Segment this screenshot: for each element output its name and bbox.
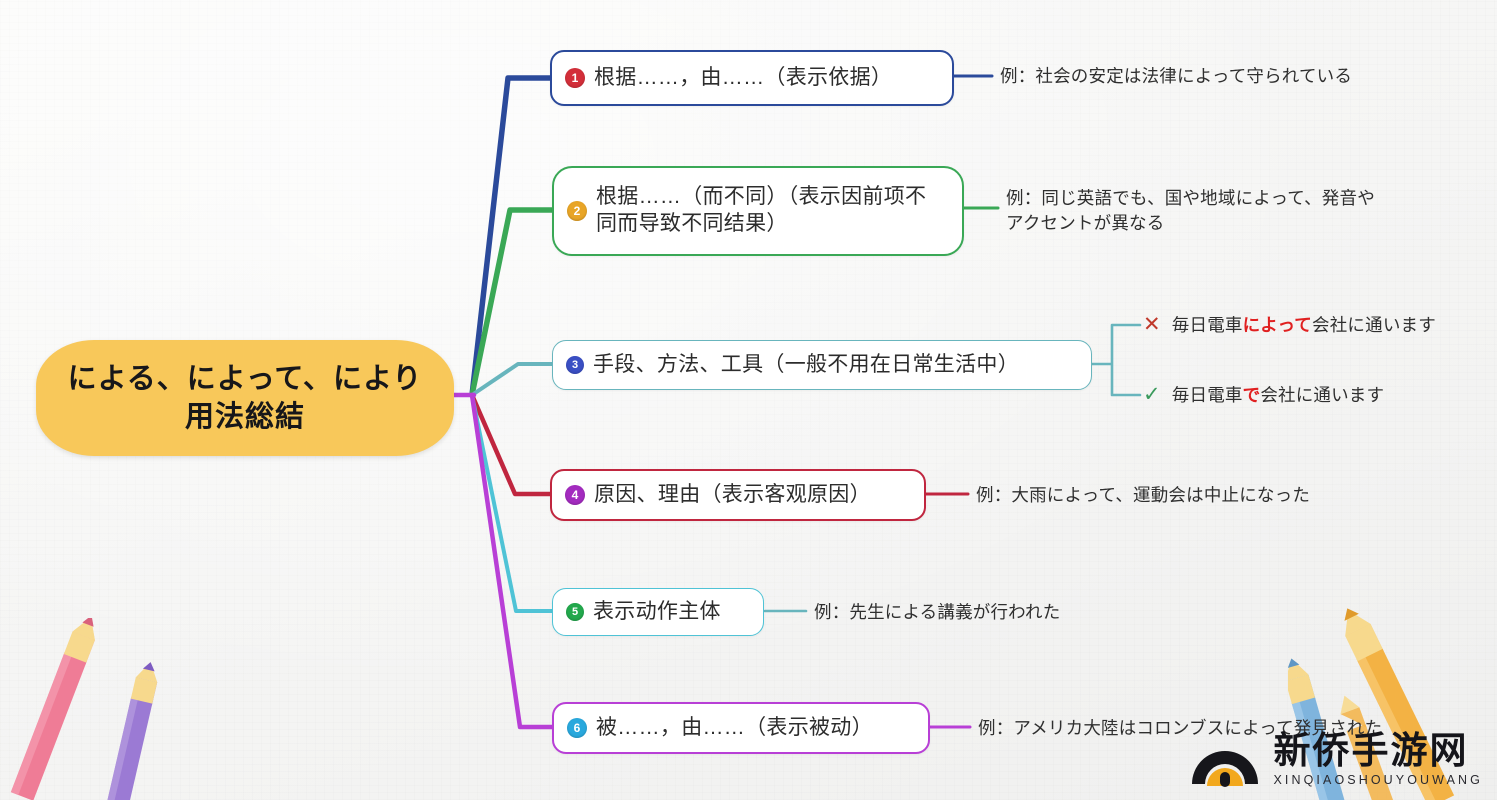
sub-example-incorrect-highlight: によって: [1243, 312, 1312, 337]
branch-node-3[interactable]: 3 手段、方法、工具（一般不用在日常生活中）: [552, 340, 1092, 390]
branch-label-6: 被……，由……（表示被动）: [596, 715, 873, 742]
example-text-4: 例：大雨によって、運動会は中止になった: [976, 483, 1356, 508]
sub-example-correct-highlight: で: [1243, 382, 1261, 407]
branch-node-4[interactable]: 4 原因、理由（表示客观原因）: [550, 469, 926, 521]
example-text-1: 例：社会の安定は法律によって守られている: [1000, 64, 1390, 89]
branch-badge-1: 1: [565, 68, 585, 88]
sub-example-correct-before: 毎日電車: [1172, 382, 1243, 407]
branch-label-1: 根据……，由……（表示依据）: [594, 65, 892, 92]
example-text-5: 例：先生による講義が行われた: [814, 600, 1144, 625]
sub-example-incorrect-before: 毎日電車: [1172, 312, 1243, 337]
watermark-sub-text: XINQIAOSHOUYOUWANG: [1273, 774, 1483, 787]
sub-example-correct: ✓ 毎日電車 で 会社に通います: [1143, 382, 1384, 407]
watermark-main-text: 新侨手游网: [1273, 732, 1483, 769]
check-icon: ✓: [1143, 384, 1161, 405]
branch-badge-5: 5: [566, 603, 584, 621]
site-watermark: 新侨手游网 XINQIAOSHOUYOUWANG: [1187, 728, 1483, 790]
example-text-2: 例：同じ英語でも、国や地域によって、発音やアクセントが異なる: [1006, 186, 1376, 237]
branch-badge-6: 6: [567, 718, 587, 738]
branch-node-5[interactable]: 5 表示动作主体: [552, 588, 764, 636]
watermark-text-block: 新侨手游网 XINQIAOSHOUYOUWANG: [1273, 732, 1483, 787]
branch-node-2[interactable]: 2 根据……（而不同）（表示因前项不同而导致不同结果）: [552, 166, 964, 256]
sub-example-correct-after: 会社に通います: [1260, 382, 1384, 407]
branch-badge-4: 4: [565, 485, 585, 505]
branch-node-1[interactable]: 1 根据……，由……（表示依据）: [550, 50, 954, 106]
branch-node-6[interactable]: 6 被……，由……（表示被动）: [552, 702, 930, 754]
mindmap-canvas: による、によって、により用法総結 1 根据……，由……（表示依据） 2 根据………: [0, 0, 1497, 800]
sub-example-incorrect-after: 会社に通います: [1312, 312, 1436, 337]
wire-subexample-bracket: [1092, 325, 1140, 395]
branch-badge-3: 3: [566, 356, 584, 374]
branch-label-2: 根据……（而不同）（表示因前项不同而导致不同结果）: [596, 184, 941, 238]
central-topic-label: による、によって、により用法総結: [36, 360, 454, 437]
wire-branch-3: [472, 364, 552, 395]
branch-label-4: 原因、理由（表示客观原因）: [594, 482, 871, 509]
branch-badge-2: 2: [567, 201, 587, 221]
watermark-arch-logo-icon: [1187, 728, 1263, 790]
central-topic-node[interactable]: による、によって、により用法総結: [36, 340, 454, 456]
branch-label-3: 手段、方法、工具（一般不用在日常生活中）: [593, 352, 1019, 379]
sub-example-incorrect: ✕ 毎日電車 によって 会社に通います: [1143, 312, 1436, 337]
cross-icon: ✕: [1143, 314, 1161, 335]
branch-label-5: 表示动作主体: [593, 599, 721, 626]
